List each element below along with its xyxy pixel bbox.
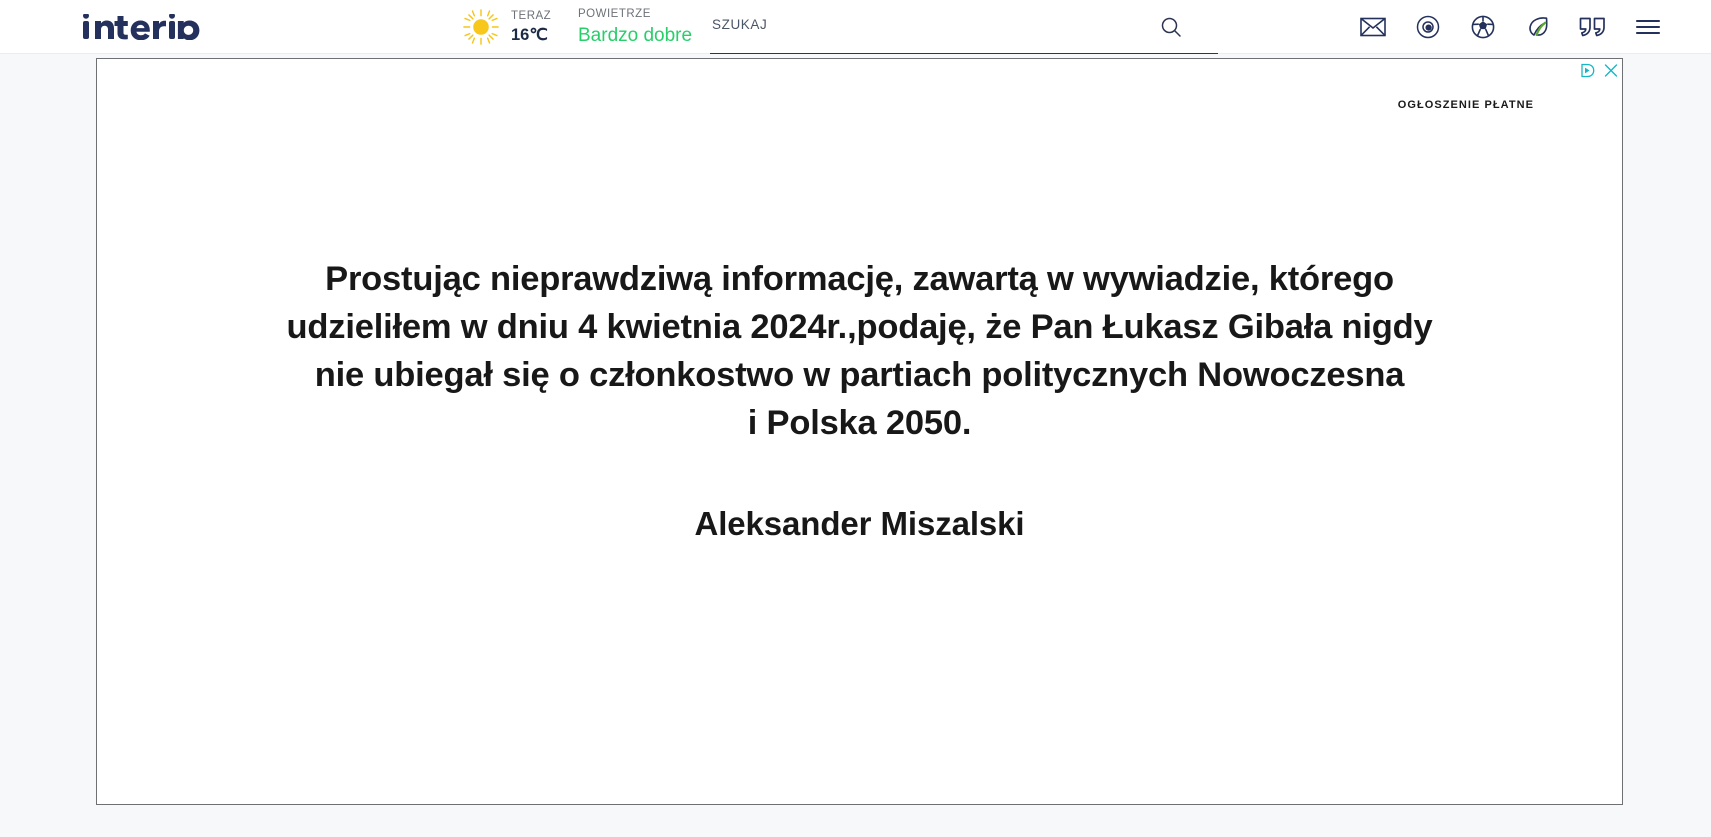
- air-quality-widget[interactable]: POWIETRZE Bardzo dobre: [578, 0, 692, 54]
- adchoices-triangle-icon: [1580, 63, 1597, 78]
- adchoices-icon[interactable]: [1580, 63, 1597, 78]
- interia-wordmark-icon: [83, 14, 233, 40]
- weather-widget[interactable]: TERAZ 16℃: [462, 0, 551, 54]
- search-area: [710, 0, 1218, 54]
- hamburger-menu-icon-button[interactable]: [1634, 14, 1661, 41]
- search-button[interactable]: [1160, 16, 1182, 38]
- header-icon-bar: [1359, 0, 1691, 54]
- search-icon: [1160, 16, 1182, 38]
- sun-icon: [462, 8, 500, 46]
- leaf-icon-button[interactable]: [1524, 14, 1551, 41]
- air-quality-label: POWIETRZE: [578, 9, 692, 21]
- weather-text-block: TERAZ 16℃: [511, 11, 551, 44]
- ad-body-text: Prostując nieprawdziwą informację, zawar…: [137, 255, 1582, 447]
- site-header: TERAZ 16℃ POWIETRZE Bardzo dobre: [0, 0, 1711, 54]
- brand-logo[interactable]: [83, 14, 233, 40]
- ad-body-line: nie ubiegał się o członkostwo w partiach…: [137, 351, 1582, 399]
- mail-icon-button[interactable]: [1359, 14, 1386, 41]
- advertisement-slot[interactable]: OGŁOSZENIE PŁATNE Prostując nieprawdziwą…: [96, 58, 1623, 805]
- leaf-icon: [1526, 15, 1550, 39]
- ad-body-line: Prostując nieprawdziwą informację, zawar…: [137, 255, 1582, 303]
- ad-close-button[interactable]: [1603, 63, 1619, 78]
- ad-badges: [1580, 61, 1619, 79]
- weather-temperature: 16℃: [511, 27, 551, 44]
- quote-icon: [1579, 17, 1606, 37]
- eye-target-icon: [1416, 15, 1440, 39]
- close-icon: [1603, 63, 1619, 78]
- air-text-block: POWIETRZE Bardzo dobre: [578, 9, 692, 45]
- ad-body-line: i Polska 2050.: [137, 399, 1582, 447]
- quote-icon-button[interactable]: [1579, 14, 1606, 41]
- eye-target-icon-button[interactable]: [1414, 14, 1441, 41]
- air-quality-value: Bardzo dobre: [578, 26, 692, 45]
- weather-now-label: TERAZ: [511, 11, 551, 23]
- ad-creative: Prostując nieprawdziwą informację, zawar…: [97, 255, 1622, 543]
- search-input[interactable]: [710, 17, 1140, 38]
- hamburger-menu-icon: [1635, 18, 1661, 36]
- search-field-wrapper: [710, 13, 1218, 54]
- ad-signature: Aleksander Miszalski: [137, 505, 1582, 543]
- mail-icon: [1360, 17, 1386, 37]
- ad-paid-label: OGŁOSZENIE PŁATNE: [1398, 99, 1534, 111]
- ad-body-line: udzieliłem w dniu 4 kwietnia 2024r.,poda…: [137, 303, 1582, 351]
- soccer-ball-icon-button[interactable]: [1469, 14, 1496, 41]
- soccer-ball-icon: [1471, 15, 1495, 39]
